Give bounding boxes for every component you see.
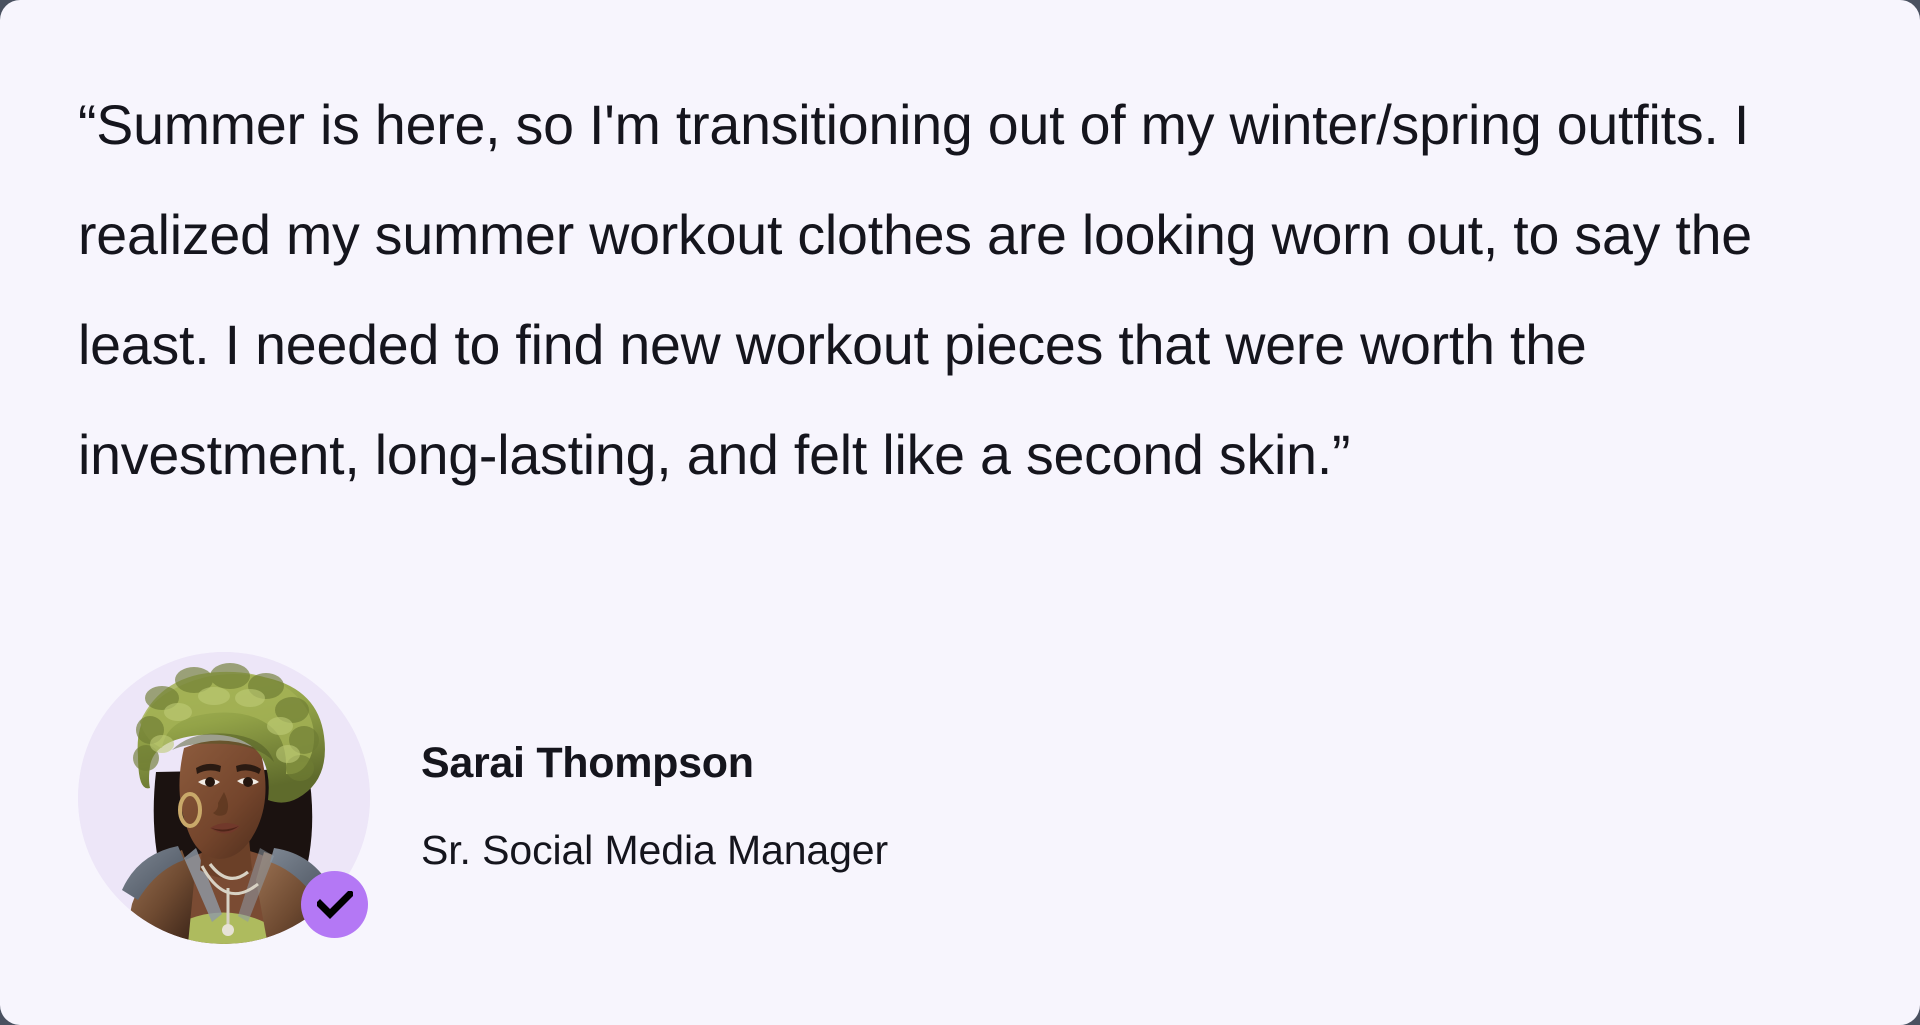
author-row: Sarai Thompson Sr. Social Media Manager (78, 648, 888, 948)
check-icon (317, 891, 353, 919)
author-name: Sarai Thompson (421, 736, 888, 791)
author-title: Sr. Social Media Manager (421, 824, 888, 877)
avatar (78, 652, 370, 944)
testimonial-quote: “Summer is here, so I'm transitioning ou… (78, 70, 1878, 510)
testimonial-card: “Summer is here, so I'm transitioning ou… (0, 0, 1920, 1025)
verified-badge (301, 871, 368, 938)
author-details: Sarai Thompson Sr. Social Media Manager (421, 718, 888, 877)
